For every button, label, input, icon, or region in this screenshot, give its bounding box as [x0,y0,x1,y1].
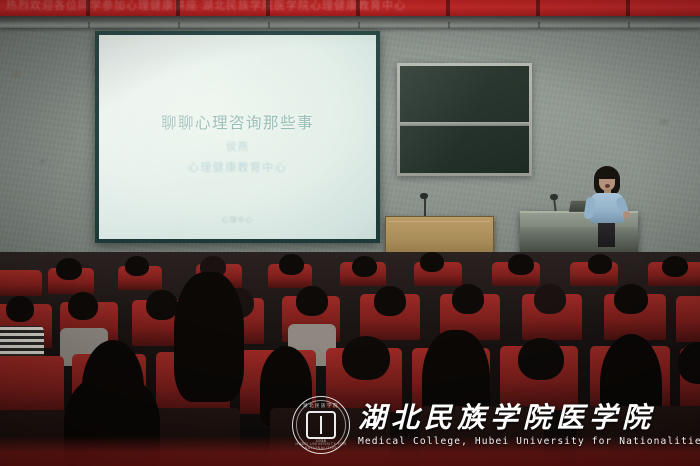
audience-head [125,256,149,276]
watermark-english-name: Medical College, Hubei University for Na… [358,436,700,447]
watermark-text-block: 湖北民族学院医学院 Medical College, Hubei Univers… [358,403,700,446]
chalkboard-glare [400,66,529,173]
audience-head [279,254,304,275]
audience-head [174,272,244,402]
presenter-hand [623,211,630,218]
chalkboard-frame [397,63,532,176]
chalkboard [400,66,529,173]
wall-blemish [12,72,21,77]
audience-head [614,284,648,314]
red-top-banner: 热烈欢迎各位同学参加心理健康讲座 湖北民族学院医学院心理健康教育中心 [0,0,700,16]
slide-organization: 心理健康教育中心 [99,159,376,175]
audience-head [534,284,566,314]
presenter-legs [598,221,615,247]
microphone-icon [550,194,558,200]
wall-blemish [660,120,668,124]
presenter-figure [585,166,631,230]
audience-head [508,254,534,275]
watermark: 湖北民族学院 1938 HUBEI UNIVERSITY FOR NATIONA… [292,392,692,458]
banner-panel-seams [0,0,700,16]
watermark-chinese-name: 湖北民族学院医学院 [358,403,700,432]
audience-head [68,292,98,320]
projection-screen: 聊聊心理咨询那些事 侯燕 心理健康教育中心 心理中心 [99,35,376,239]
audience-head [352,256,377,277]
microphone-stand [424,198,426,216]
ceiling-beam [0,22,700,28]
presenter-fringe [597,169,617,179]
slide-title: 聊聊心理咨询那些事 [99,111,376,133]
audience-head [420,252,444,272]
audience-head [342,336,390,380]
audience-head [374,286,406,316]
screen-glare [99,35,376,239]
slide-footer-watermark: 心理中心 [99,215,376,225]
slide-presenter-name: 侯燕 [99,139,376,154]
seal-top-text: 湖北民族学院 [293,403,349,409]
audience-head [146,290,178,320]
microphone-icon [420,193,428,199]
audience-head [662,256,688,277]
audience-head [56,258,82,280]
audience-head [296,286,328,316]
lecture-hall-screenshot: 热烈欢迎各位同学参加心理健康讲座 湖北民族学院医学院心理健康教育中心 聊聊心理咨… [0,0,700,466]
projection-screen-frame: 聊聊心理咨询那些事 侯燕 心理健康教育中心 心理中心 [95,31,380,243]
wall-blemish [40,160,45,163]
seal-emblem-icon [306,411,336,439]
audience-head [6,296,34,322]
university-seal-icon: 湖北民族学院 1938 HUBEI UNIVERSITY FOR NATIONA… [292,396,350,454]
seal-bottom-text: HUBEI UNIVERSITY FOR NATIONALITIES [293,442,349,450]
audience-head [518,338,564,380]
presenter-mouth [605,184,610,188]
audience-head [64,372,160,466]
audience-head [452,284,484,314]
audience-head [588,254,612,274]
